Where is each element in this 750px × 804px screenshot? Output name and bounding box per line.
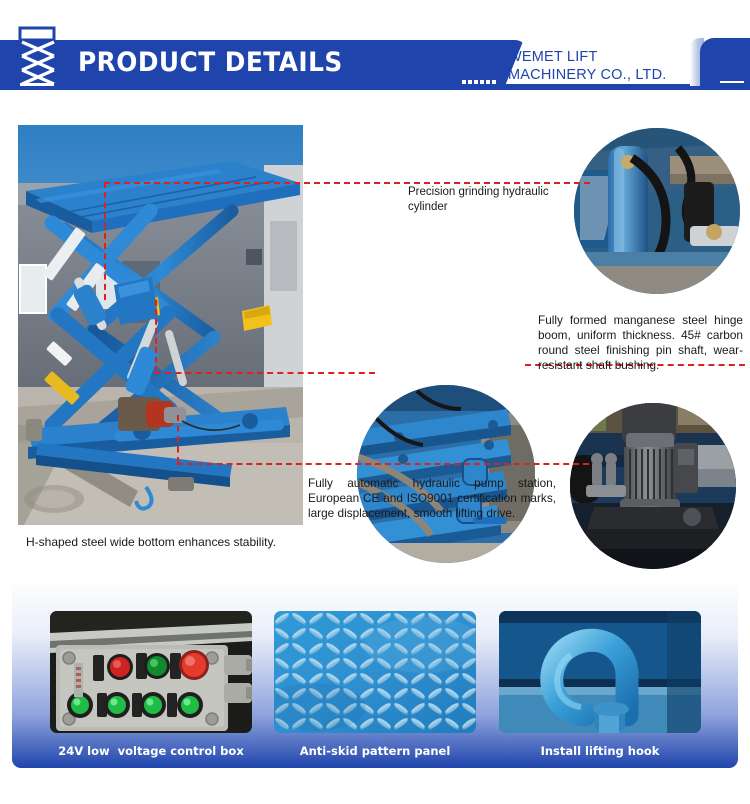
callout-line-1-vertical [104,182,106,300]
main-detail-section: Precision grinding hydraulic cylinder Fu… [0,110,750,570]
thumbnail-row: 24V low voltage control box Anti-skid pa… [12,578,738,768]
callout-line-1-horizontal [104,182,590,184]
header-dot-decoration [462,80,496,84]
page-header: PRODUCT DETAILS WEMET LIFT MACHINERY CO.… [0,0,750,110]
callout-line-3-horizontal [177,463,589,465]
main-photo-caption: H-shaped steel wide bottom enhances stab… [26,535,276,549]
detail-photo-pump-station [570,403,736,569]
thumbnail-lifting-hook [499,611,701,733]
callout-text-hinge-boom: Fully formed manganese steel hinge boom,… [538,313,743,373]
company-name-line2: MACHINERY CO., LTD. [508,66,708,84]
scissor-lift-icon [12,26,68,88]
callout-line-2-vertical [155,300,157,372]
company-name-line1: WEMET LIFT [508,48,708,66]
header-corner-tick [720,81,744,83]
callout-line-3-vertical [177,415,179,463]
page-title: PRODUCT DETAILS [78,48,343,78]
thumbnail-caption-control-box: 24V low voltage control box [50,744,252,758]
thumbnail-caption-antiskid-panel: Anti-skid pattern panel [274,744,476,758]
detail-photo-hydraulic-cylinder [574,128,740,294]
company-name: WEMET LIFT MACHINERY CO., LTD. [508,48,708,84]
detail-photo-hinge-boom [357,385,535,563]
callout-text-hydraulic-cylinder: Precision grinding hydraulic cylinder [408,185,568,214]
header-bottom-rule [0,86,750,90]
thumbnail-control-box [50,611,252,733]
bottom-feature-strip: 24V low voltage control box Anti-skid pa… [12,578,738,768]
product-details-page: PRODUCT DETAILS WEMET LIFT MACHINERY CO.… [0,0,750,804]
callout-line-2-horizontal [155,372,375,374]
thumbnail-antiskid-panel [274,611,476,733]
callout-text-pump-station: Fully automatic hydraulic pump station, … [308,476,556,521]
main-product-photo [18,125,303,525]
header-corner-block [700,38,750,86]
thumbnail-caption-lifting-hook: Install lifting hook [499,744,701,758]
